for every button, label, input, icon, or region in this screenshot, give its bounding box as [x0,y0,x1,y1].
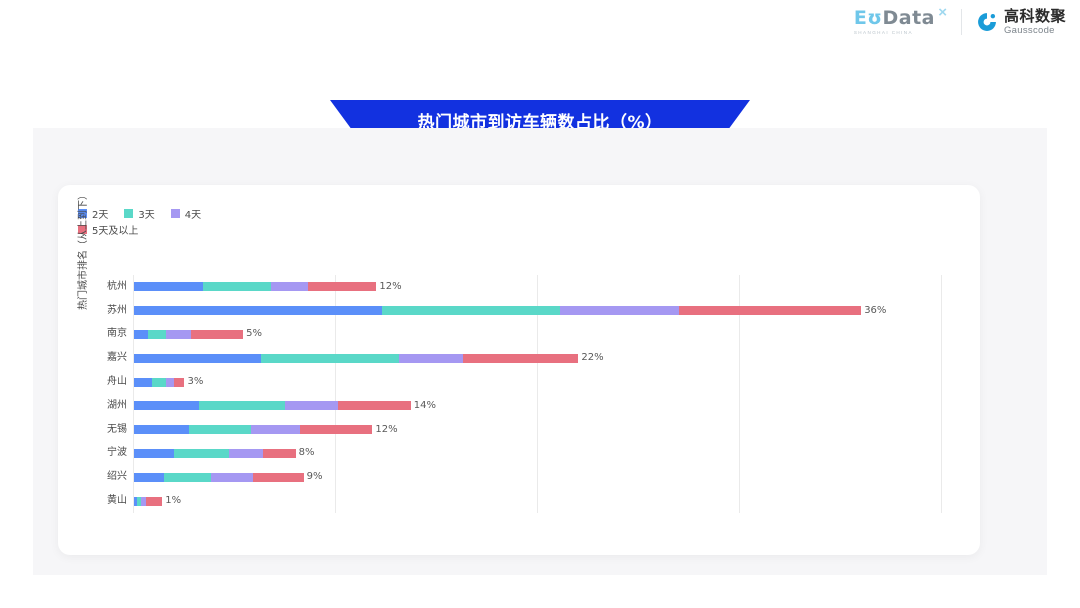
stacked-bar[interactable] [134,282,376,291]
stacked-bar[interactable] [134,330,243,339]
bar-segment[interactable] [261,354,398,363]
chart-bar-row[interactable]: 绍兴9% [133,465,941,489]
bar-segment[interactable] [134,282,203,291]
bar-value-label: 8% [299,448,315,458]
bar-segment[interactable] [134,449,174,458]
bar-segment[interactable] [263,449,295,458]
bar-segment[interactable] [199,401,286,410]
y-axis-tick-label: 嘉兴 [81,353,127,363]
y-axis-tick-label: 宁波 [81,448,127,458]
evdata-logo: EʊData × SHANGHAI CHINA [854,9,947,35]
bar-segment[interactable] [338,401,411,410]
legend-item[interactable]: 4天 [171,206,201,220]
bar-value-label: 3% [188,377,204,387]
bar-segment[interactable] [679,306,861,315]
bar-value-label: 1% [165,496,181,506]
bar-segment[interactable] [166,378,174,387]
bar-segment[interactable] [134,354,261,363]
bar-segment[interactable] [560,306,679,315]
bar-value-label: 9% [307,472,323,482]
bar-segment[interactable] [271,282,307,291]
evdata-wordmark-ev: Eʊ [854,7,883,29]
bar-segment[interactable] [134,330,148,339]
gausscode-logo: 高科数聚 Gausscode [976,9,1066,36]
bar-segment[interactable] [285,401,338,410]
stacked-bar[interactable] [134,378,184,387]
bar-value-label: 5% [246,329,262,339]
logo-group: EʊData × SHANGHAI CHINA 高科数聚 Gausscode [854,9,1066,36]
legend-item-label: 2天 [92,206,108,221]
chart-bar-row[interactable]: 舟山3% [133,370,941,394]
gausscode-name-cn: 高科数聚 [1004,9,1066,24]
chart-legend: 2天3天4天5天及以上 [78,206,378,238]
y-axis-tick-label: 黄山 [81,496,127,506]
bar-segment[interactable] [164,473,210,482]
bar-segment[interactable] [399,354,464,363]
bar-segment[interactable] [134,473,164,482]
bar-segment[interactable] [134,425,189,434]
evdata-subtitle: SHANGHAI CHINA [854,30,913,35]
bar-segment[interactable] [174,378,184,387]
logo-divider [961,9,962,35]
bar-segment[interactable] [134,378,152,387]
legend-swatch-icon [171,209,180,218]
bar-segment[interactable] [189,425,252,434]
chart-bar-row[interactable]: 杭州12% [133,275,941,299]
bar-segment[interactable] [253,473,304,482]
stacked-bar-chart: 热门城市排名（从上到下） 杭州12%苏州36%南京5%嘉兴22%舟山3%湖州14… [78,275,968,520]
legend-item-label: 3天 [138,206,154,221]
chart-bar-row[interactable]: 嘉兴22% [133,346,941,370]
bar-segment[interactable] [308,282,377,291]
bar-segment[interactable] [251,425,299,434]
legend-swatch-icon [124,209,133,218]
stacked-bar[interactable] [134,425,372,434]
stacked-bar[interactable] [134,354,578,363]
y-axis-tick-label: 苏州 [81,306,127,316]
bar-segment[interactable] [174,449,229,458]
chart-bar-row[interactable]: 湖州14% [133,394,941,418]
stacked-bar[interactable] [134,497,162,506]
bar-value-label: 36% [864,306,886,316]
bar-value-label: 14% [414,401,436,411]
stacked-bar[interactable] [134,401,411,410]
y-axis-tick-label: 南京 [81,329,127,339]
page-header: EʊData × SHANGHAI CHINA 高科数聚 Gausscode [0,0,1080,58]
bar-segment[interactable] [134,306,382,315]
stacked-bar[interactable] [134,306,861,315]
bar-value-label: 12% [379,282,401,292]
bar-segment[interactable] [463,354,578,363]
chart-bar-row[interactable]: 南京5% [133,323,941,347]
gausscode-name-en: Gausscode [1004,26,1066,36]
bar-segment[interactable] [152,378,166,387]
chart-gridline [941,275,942,513]
y-axis-tick-label: 无锡 [81,425,127,435]
chart-plot-area: 杭州12%苏州36%南京5%嘉兴22%舟山3%湖州14%无锡12%宁波8%绍兴9… [133,275,941,513]
bar-segment[interactable] [203,282,272,291]
evdata-superscript-icon: × [938,5,947,20]
legend-item[interactable]: 3天 [124,206,154,220]
bar-segment[interactable] [166,330,190,339]
gausscode-text: 高科数聚 Gausscode [1004,9,1066,36]
bar-segment[interactable] [148,330,166,339]
stacked-bar[interactable] [134,473,304,482]
stacked-bar[interactable] [134,449,296,458]
bar-segment[interactable] [191,330,244,339]
y-axis-title: 热门城市排名（从上到下） [74,175,89,325]
legend-item-label: 5天及以上 [92,222,138,237]
chart-bar-row[interactable]: 黄山1% [133,489,941,513]
bar-value-label: 12% [375,425,397,435]
chart-rows: 杭州12%苏州36%南京5%嘉兴22%舟山3%湖州14%无锡12%宁波8%绍兴9… [133,275,941,513]
bar-segment[interactable] [134,401,199,410]
bar-segment[interactable] [146,497,162,506]
bar-segment[interactable] [300,425,373,434]
y-axis-tick-label: 舟山 [81,377,127,387]
bar-value-label: 22% [581,353,603,363]
y-axis-tick-label: 湖州 [81,401,127,411]
chart-bar-row[interactable]: 苏州36% [133,299,941,323]
y-axis-tick-label: 绍兴 [81,472,127,482]
chart-bar-row[interactable]: 无锡12% [133,418,941,442]
y-axis-tick-label: 杭州 [81,282,127,292]
evdata-wordmark-data: Data [882,7,935,29]
legend-item-label: 4天 [185,206,201,221]
gausscode-mark-icon [976,11,998,33]
bar-segment[interactable] [382,306,560,315]
evdata-wordmark: EʊData [854,9,935,28]
chart-bar-row[interactable]: 宁波8% [133,442,941,466]
bar-segment[interactable] [229,449,263,458]
bar-segment[interactable] [211,473,253,482]
